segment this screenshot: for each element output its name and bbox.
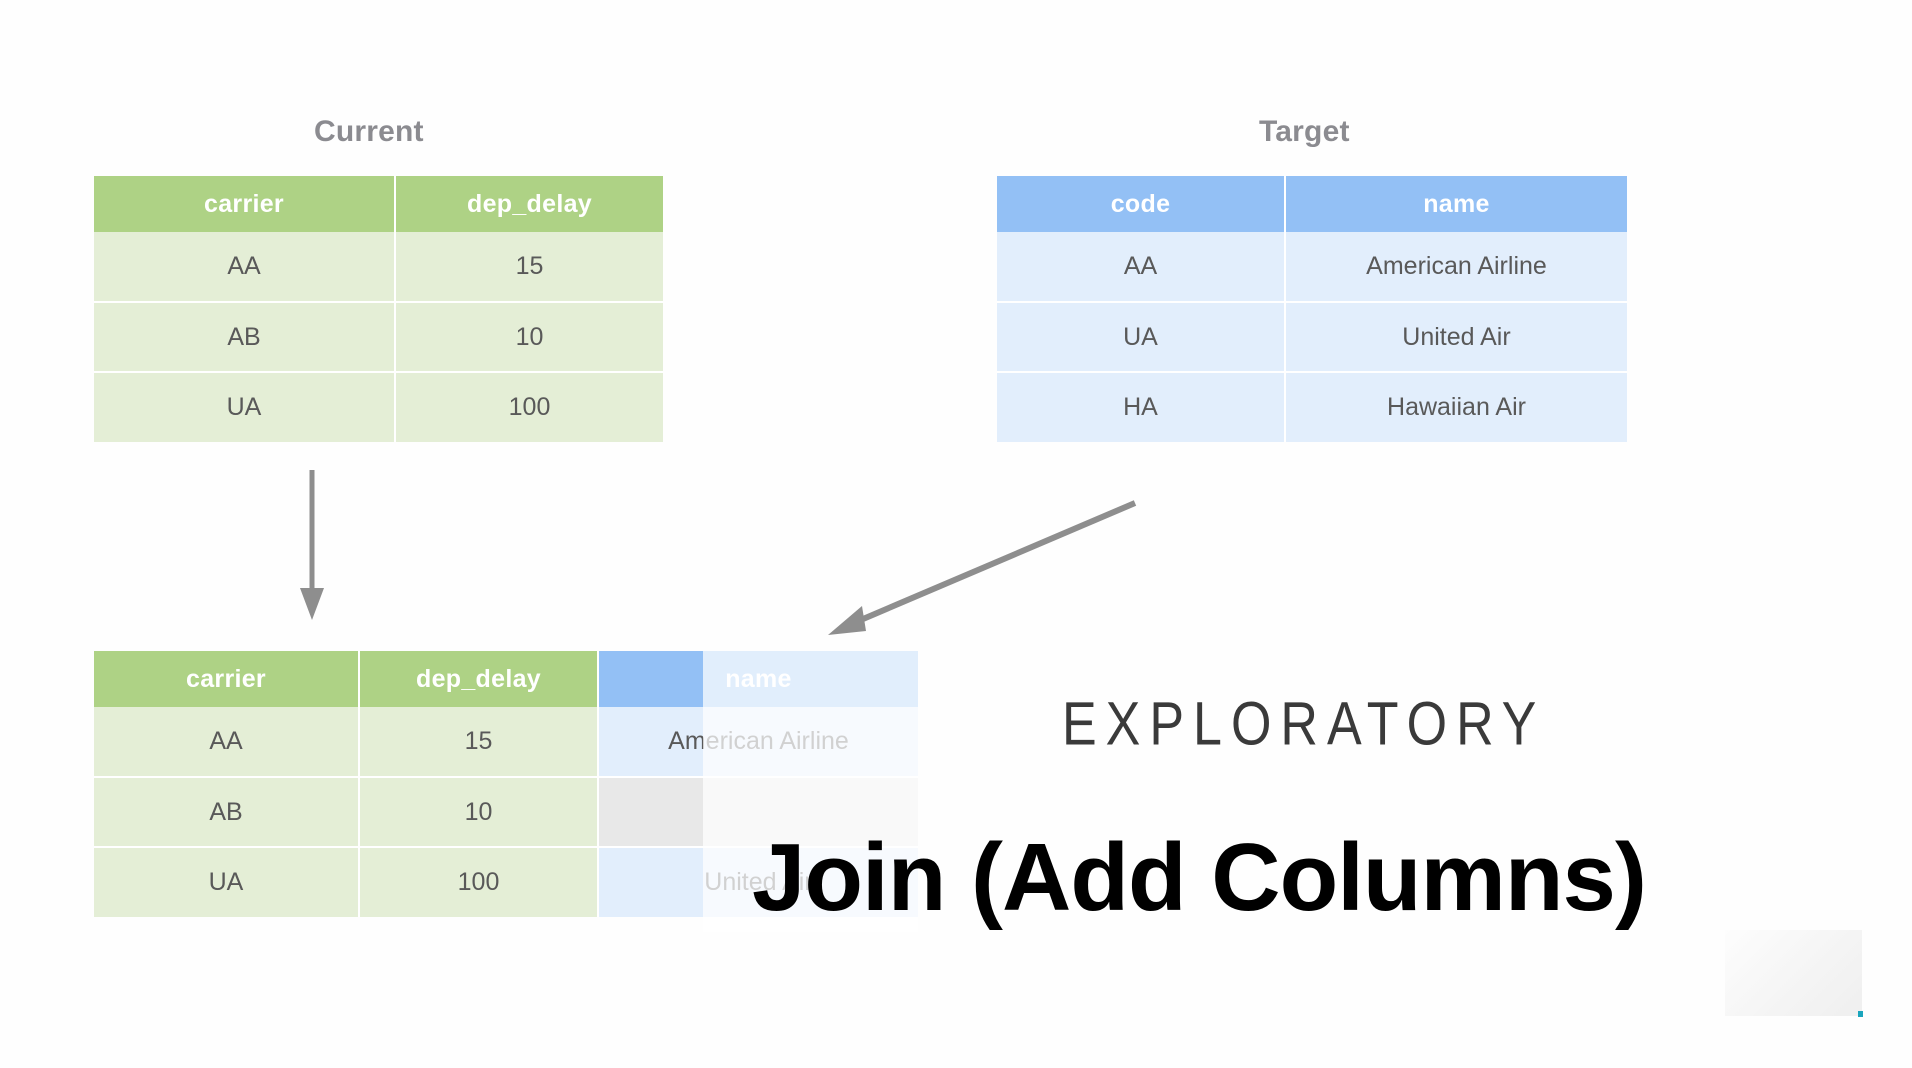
cell-carrier: AA (94, 232, 395, 302)
cell-carrier: UA (94, 847, 359, 917)
table-row: AA 15 (94, 232, 663, 302)
cell-carrier: AB (94, 302, 395, 372)
column-header-dep-delay: dep_delay (395, 176, 663, 232)
table-row: AA 15 American Airline (94, 707, 918, 777)
slide-edge-artifact (1725, 930, 1862, 1016)
cell-code: AA (997, 232, 1285, 302)
cell-carrier: AA (94, 707, 359, 777)
cell-name: American Airline (1285, 232, 1627, 302)
column-header-name: name (598, 651, 918, 707)
cell-code: UA (997, 302, 1285, 372)
table-header-row: carrier dep_delay name (94, 651, 918, 707)
target-table-caption: Target (1259, 115, 1350, 149)
table-row: UA 100 (94, 372, 663, 442)
cell-dep-delay: 15 (395, 232, 663, 302)
column-header-carrier: carrier (94, 176, 395, 232)
cell-name: United Air (1285, 302, 1627, 372)
table-header-row: code name (997, 176, 1627, 232)
cell-carrier: UA (94, 372, 395, 442)
cell-name: Hawaiian Air (1285, 372, 1627, 442)
current-table-caption: Current (314, 115, 424, 149)
cell-code: HA (997, 372, 1285, 442)
column-header-code: code (997, 176, 1285, 232)
cell-dep-delay: 10 (359, 777, 598, 847)
target-table: code name AA American Airline UA United … (997, 176, 1627, 442)
arrow-target-to-result-icon (810, 490, 1150, 650)
slide-canvas: Current Target carrier dep_delay AA 15 A… (0, 0, 1912, 1068)
cell-dep-delay: 100 (359, 847, 598, 917)
cell-dep-delay: 10 (395, 302, 663, 372)
cell-name: American Airline (598, 707, 918, 777)
table-row: UA United Air (997, 302, 1627, 372)
arrow-current-to-result-icon (300, 470, 360, 630)
table-row: HA Hawaiian Air (997, 372, 1627, 442)
slide-edge-marker (1858, 1011, 1863, 1017)
cell-carrier: AB (94, 777, 359, 847)
slide-title: Join (Add Columns) (752, 830, 1646, 926)
column-header-carrier: carrier (94, 651, 359, 707)
cell-dep-delay: 100 (395, 372, 663, 442)
table-header-row: carrier dep_delay (94, 176, 663, 232)
exploratory-brand-logo: EXPLORATORY (1062, 689, 1545, 760)
table-row: AB 10 (94, 302, 663, 372)
column-header-name: name (1285, 176, 1627, 232)
table-row: AA American Airline (997, 232, 1627, 302)
column-header-dep-delay: dep_delay (359, 651, 598, 707)
current-table: carrier dep_delay AA 15 AB 10 UA 100 (94, 176, 663, 442)
cell-dep-delay: 15 (359, 707, 598, 777)
